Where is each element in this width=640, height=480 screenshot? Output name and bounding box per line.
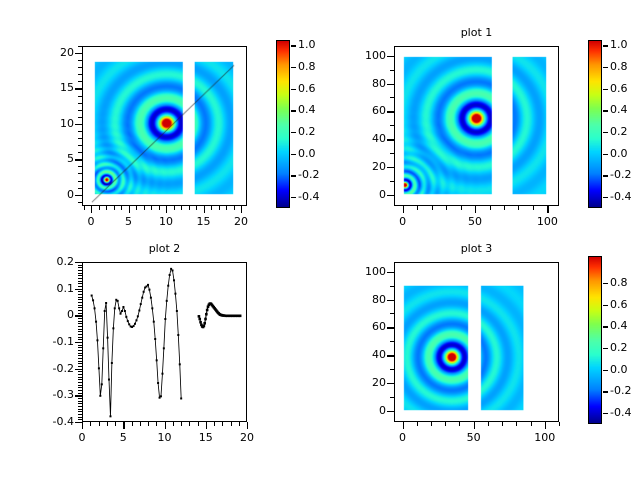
y-minor-tick [390,397,394,398]
colorbar-tick-label: 0.8 [610,276,628,289]
y-major-tick [387,411,394,412]
colorbar-tick-label: 0.4 [610,319,628,332]
x-tick-label: 0 [378,431,428,444]
colorbar-tick [603,391,608,392]
y-tick-label: 100 [338,265,386,278]
image-plot-3-axes [394,262,559,422]
colorbar-tick [603,370,608,371]
colorbar-tick-label: 0.6 [610,298,628,311]
x-major-tick [403,422,404,429]
image-plot-3: plot 30501000204060801000.80.60.40.20.0-… [0,0,640,480]
figure-canvas: 05101520051015201.00.80.60.40.20.0-0.2-0… [0,0,640,480]
y-tick-label: 40 [338,348,386,361]
x-tick-label: 50 [449,431,499,444]
y-major-tick [387,300,394,301]
colorbar-gradient [589,257,602,424]
colorbar-tick [603,305,608,306]
colorbar-tick-label: 0.0 [610,363,628,376]
colorbar-tick [603,326,608,327]
x-minor-tick [445,422,446,426]
image-plot-3-colorbar [588,256,602,424]
x-minor-tick [516,422,517,426]
x-minor-tick [431,422,432,426]
colorbar-tick-label: -0.4 [610,406,631,419]
y-minor-tick [390,369,394,370]
y-tick-label: 60 [338,320,386,333]
colorbar-tick-label: 0.2 [610,341,628,354]
y-minor-tick [390,313,394,314]
colorbar-tick [603,283,608,284]
image-plot-3-image [395,263,558,421]
x-minor-tick [488,422,489,426]
y-tick-label: 80 [338,293,386,306]
y-major-tick [387,272,394,273]
y-major-tick [387,355,394,356]
y-tick-label: 0 [338,404,386,417]
y-major-tick [387,383,394,384]
image-plot-3-title: plot 3 [354,242,599,255]
colorbar-tick-label: -0.2 [610,384,631,397]
x-minor-tick [459,422,460,426]
colorbar-tick [603,413,608,414]
x-minor-tick [531,422,532,426]
x-major-tick [545,422,546,429]
x-minor-tick [502,422,503,426]
x-minor-tick [559,422,560,426]
colorbar-tick [603,348,608,349]
y-major-tick [387,327,394,328]
y-tick-label: 20 [338,376,386,389]
x-minor-tick [417,422,418,426]
x-major-tick [474,422,475,429]
x-tick-label: 100 [520,431,570,444]
y-minor-tick [390,341,394,342]
y-minor-tick [390,286,394,287]
